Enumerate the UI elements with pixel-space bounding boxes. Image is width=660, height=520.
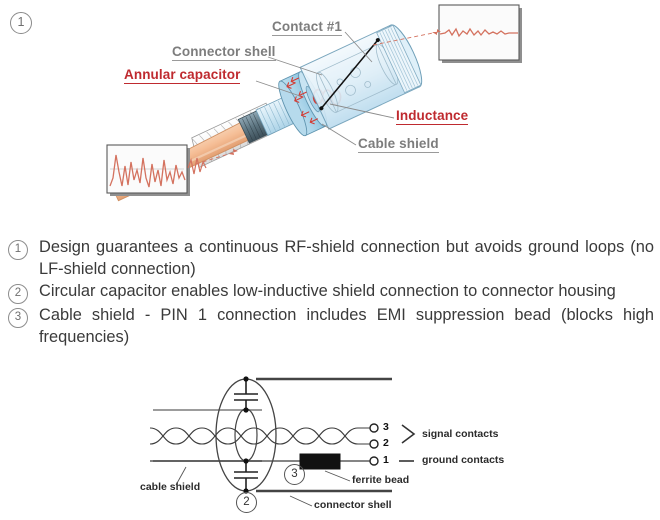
leader-ferrite: [325, 471, 350, 481]
page-root: 1 Contact #1 Connector shell Annular cap…: [0, 0, 660, 520]
schematic-drawing: [0, 368, 660, 520]
pin-2-terminal: [370, 440, 378, 448]
pin-3-terminal: [370, 424, 378, 432]
label-cable-shield: Cable shield: [358, 136, 439, 153]
note-text-3: Cable shield - PIN 1 connection includes…: [39, 305, 654, 348]
label-inductance: Inductance: [396, 108, 468, 125]
capacitor-region-ellipse: [216, 379, 276, 491]
label-contact-1: Contact #1: [272, 19, 342, 36]
clean-waveform-box: [439, 5, 522, 63]
note-item: 2 Circular capacitor enables low-inducti…: [8, 281, 654, 304]
note-bullet-3: 3: [8, 308, 28, 328]
schematic-marker-3: 3: [284, 464, 305, 485]
ferrite-bead-symbol: [300, 454, 340, 469]
note-bullet-1: 1: [8, 240, 28, 260]
legend-ground-contacts: ground contacts: [422, 454, 504, 466]
pin-label-3: 3: [383, 421, 389, 433]
pin-label-2: 2: [383, 437, 389, 449]
schematic-marker-2: 2: [236, 492, 257, 513]
pin-label-1: 1: [383, 454, 389, 466]
note-bullet-2: 2: [8, 284, 28, 304]
note-text-1: Design guarantees a continuous RF-shield…: [39, 237, 654, 280]
note-text-2: Circular capacitor enables low-inductive…: [39, 281, 654, 303]
signal-symbol: [402, 425, 414, 443]
noisy-waveform-box: [107, 145, 190, 196]
shield-schematic: 2 3 3 2 1 signal contacts ground contact…: [0, 368, 660, 520]
label-connector-shell: Connector shell: [172, 44, 276, 61]
schematic-label-cable-shield: cable shield: [140, 481, 200, 493]
pin-1-terminal: [370, 457, 378, 465]
capacitor-symbol-bottom: [234, 461, 258, 491]
label-annular-capacitor: Annular capacitor: [124, 67, 240, 84]
notes-list: 1 Design guarantees a continuous RF-shie…: [8, 237, 654, 349]
note-item: 3 Cable shield - PIN 1 connection includ…: [8, 305, 654, 348]
figure-marker-1: 1: [10, 12, 32, 34]
twisted-pair: [150, 428, 370, 444]
capacitor-symbol-top: [234, 379, 258, 410]
legend-signal-contacts: signal contacts: [422, 428, 498, 440]
schematic-label-connector-shell: connector shell: [314, 499, 392, 511]
note-item: 1 Design guarantees a continuous RF-shie…: [8, 237, 654, 280]
schematic-label-ferrite-bead: ferrite bead: [352, 474, 409, 486]
connector-illustration: 1 Contact #1 Connector shell Annular cap…: [0, 0, 660, 225]
leader-connector-shell: [290, 496, 312, 506]
